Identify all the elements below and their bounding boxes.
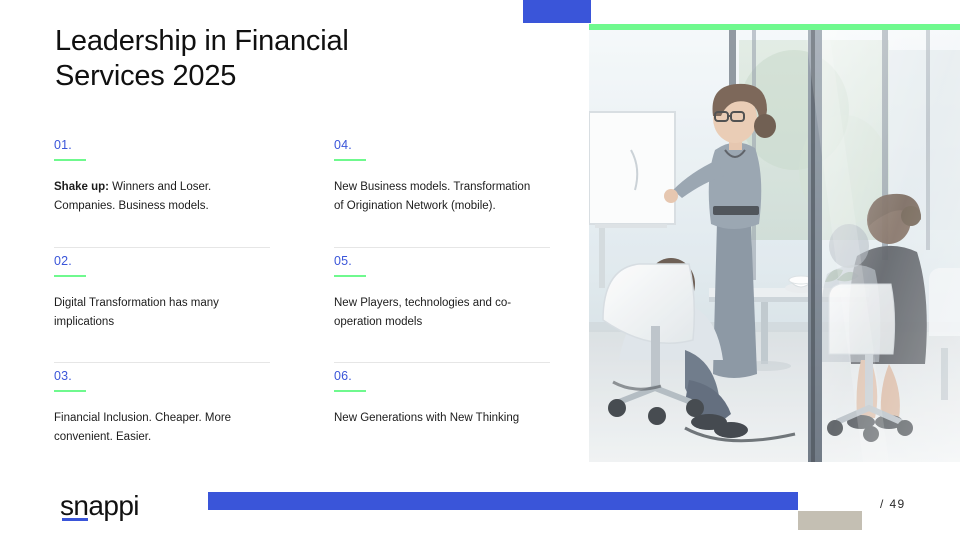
- list-item: 05. New Players, technologies and co-ope…: [334, 248, 550, 363]
- item-number: 04.: [334, 138, 550, 152]
- list-item: 04. New Business models. Transformation …: [334, 132, 550, 248]
- item-text: New Generations with New Thinking: [334, 409, 539, 428]
- item-accent-rule: [54, 390, 86, 392]
- item-text: New Business models. Transformation of O…: [334, 178, 539, 216]
- item-accent-rule: [54, 275, 86, 277]
- snappi-logo: snappi: [60, 491, 190, 525]
- logo-underline-accent: [62, 518, 88, 521]
- top-blue-accent-bar: [523, 0, 591, 23]
- item-text-body: New Players, technologies and co-operati…: [334, 297, 511, 328]
- item-text: New Players, technologies and co-operati…: [334, 294, 539, 332]
- item-number: 05.: [334, 254, 550, 268]
- item-text-body: Financial Inclusion. Cheaper. More conve…: [54, 412, 231, 443]
- list-item: 06. New Generations with New Thinking: [334, 363, 550, 453]
- list-item: 03. Financial Inclusion. Cheaper. More c…: [54, 363, 302, 453]
- item-text: Shake up: Winners and Loser. Companies. …: [54, 178, 259, 216]
- item-number: 03.: [54, 369, 302, 383]
- item-text-body: New Business models. Transformation of O…: [334, 181, 530, 212]
- list-item: 01. Shake up: Winners and Loser. Compani…: [54, 132, 302, 248]
- photo-illustration: [589, 30, 960, 462]
- office-meeting-photo: [589, 30, 960, 462]
- page-number: / 49: [880, 497, 906, 511]
- item-accent-rule: [334, 390, 366, 392]
- item-text: Digital Transformation has many implicat…: [54, 294, 259, 332]
- footer-beige-accent-block: [798, 511, 862, 530]
- item-text: Financial Inclusion. Cheaper. More conve…: [54, 409, 259, 447]
- footer-blue-accent-bar: [208, 492, 798, 510]
- item-number: 02.: [54, 254, 302, 268]
- item-accent-rule: [334, 159, 366, 161]
- logo-wordmark: snappi: [60, 491, 190, 521]
- item-text-body: Digital Transformation has many implicat…: [54, 297, 219, 328]
- item-number: 06.: [334, 369, 550, 383]
- item-text-bold: Shake up:: [54, 181, 109, 193]
- item-number: 01.: [54, 138, 302, 152]
- item-text-body: New Generations with New Thinking: [334, 412, 519, 424]
- page-title: Leadership in Financial Services 2025: [55, 24, 515, 94]
- item-accent-rule: [334, 275, 366, 277]
- numbered-items-grid: 01. Shake up: Winners and Loser. Compani…: [54, 132, 520, 453]
- item-accent-rule: [54, 159, 86, 161]
- list-item: 02. Digital Transformation has many impl…: [54, 248, 302, 363]
